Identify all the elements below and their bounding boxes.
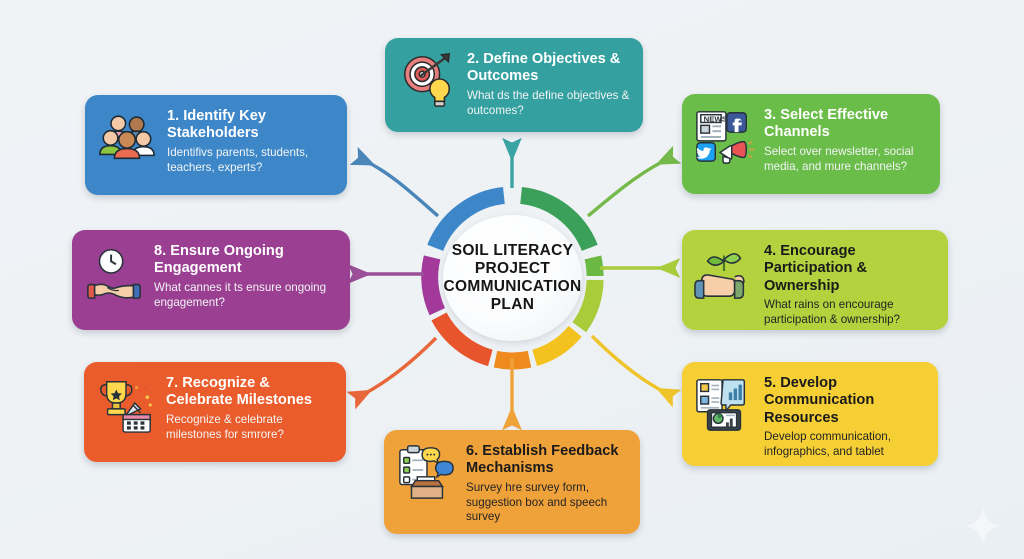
card-subtitle: Recognize & celebrate milestones for smr…	[166, 413, 334, 443]
card-title: 3. Select Effective Channels	[764, 107, 928, 142]
card-select-effective-channels[interactable]: NEWS 3. Select Effective Channels Select…	[682, 94, 940, 194]
card-establish-feedback-mechanisms[interactable]: 6. Establish Feedback Mechanisms Survey …	[384, 430, 640, 534]
card-encourage-participation-ownership[interactable]: 4. Encourage Participation & Ownership W…	[682, 230, 948, 330]
card-subtitle: Identifivs parents, students, teachers, …	[167, 146, 335, 176]
card-subtitle: Select over newsletter, social media, an…	[764, 145, 928, 175]
group-of-people-icon	[96, 106, 158, 168]
card-develop-communication-resources[interactable]: 5. Develop Communication Resources Devel…	[682, 362, 938, 466]
center-hub: SOIL LITERACY PROJECT COMMUNICATION PLAN	[443, 215, 582, 341]
clock-handshake-icon	[83, 241, 145, 303]
infographic-canvas: SOIL LITERACY PROJECT COMMUNICATION PLAN	[0, 0, 1024, 559]
card-title: 2. Define Objectives & Outcomes	[467, 51, 631, 86]
card-identify-key-stakeholders[interactable]: 1. Identify Key Stakeholders Identifivs …	[85, 95, 347, 195]
card-subtitle: What cannes it ts ensure ongoing engagem…	[154, 281, 338, 311]
card-title: 7. Recognize & Celebrate Milestones	[166, 375, 334, 410]
card-subtitle: What rains on encourage participation & …	[764, 298, 936, 328]
hand-holding-sprout-icon	[693, 241, 755, 303]
svg-text:NEWS: NEWS	[704, 114, 727, 123]
card-recognize-celebrate-milestones[interactable]: 7. Recognize & Celebrate Milestones Reco…	[84, 362, 346, 462]
card-subtitle: What ds the define objectives & outcomes…	[467, 89, 631, 119]
card-define-objectives-outcomes[interactable]: 2. Define Objectives & Outcomes What ds …	[385, 38, 643, 132]
card-title: 6. Establish Feedback Mechanisms	[466, 443, 628, 478]
trophy-calendar-confetti-icon	[95, 373, 157, 435]
card-title: 8. Ensure Ongoing Engagement	[154, 243, 338, 278]
card-subtitle: Survey hre survey form, suggestion box a…	[466, 481, 628, 525]
card-title: 5. Develop Communication Resources	[764, 375, 926, 427]
clipboard-suggestion-box-icon	[395, 441, 457, 503]
news-social-megaphone-icon: NEWS	[693, 105, 755, 167]
card-subtitle: Develop communication, infographics, and…	[764, 430, 926, 460]
target-lightbulb-icon	[396, 49, 458, 111]
documents-charts-tablet-icon	[693, 373, 755, 435]
card-title: 1. Identify Key Stakeholders	[167, 108, 335, 143]
card-ensure-ongoing-engagement[interactable]: 8. Ensure Ongoing Engagement What cannes…	[72, 230, 350, 330]
center-title: SOIL LITERACY PROJECT COMMUNICATION PLAN	[438, 242, 588, 315]
sparkle-watermark-icon	[960, 503, 1006, 549]
card-title: 4. Encourage Participation & Ownership	[764, 243, 936, 295]
